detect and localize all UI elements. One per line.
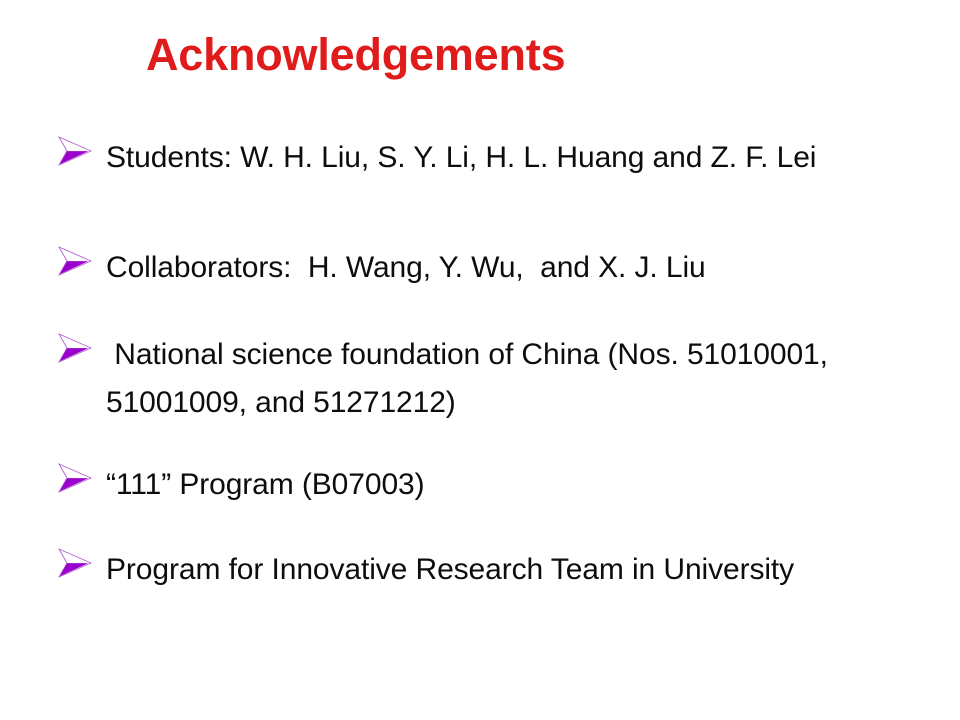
list-item-label: Collaborators: H. Wang, Y. Wu, and X. J.… [106,244,938,292]
list-item: “111” Program (B07003) [58,461,938,509]
list-item-label: Program for Innovative Research Team in … [106,546,938,594]
arrow-dart-bullet-icon [58,246,106,280]
list-item: Collaborators: H. Wang, Y. Wu, and X. J.… [58,244,938,292]
arrow-dart-bullet-icon [58,463,106,497]
arrow-dart-bullet-icon [58,548,106,582]
arrow-dart-bullet-icon [58,333,106,367]
list-item-label: “111” Program (B07003) [106,461,938,509]
list-item-label: Students: W. H. Liu, S. Y. Li, H. L. Hua… [106,134,938,182]
list-item: National science foundation of China (No… [58,331,938,427]
page-title: Acknowledgements [146,31,565,78]
list-item-label: National science foundation of China (No… [106,331,938,427]
list-item: Students: W. H. Liu, S. Y. Li, H. L. Hua… [58,134,938,182]
presentation-slide: Acknowledgements Students: W. H. Liu, S.… [0,0,960,720]
arrow-dart-bullet-icon [58,136,106,170]
list-item: Program for Innovative Research Team in … [58,546,938,594]
